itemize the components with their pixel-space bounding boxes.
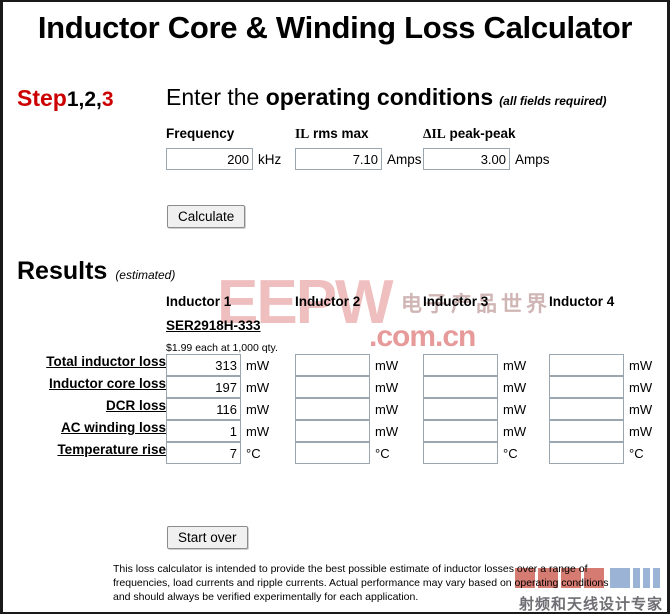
result-cell: mW bbox=[166, 354, 295, 376]
result-unit: °C bbox=[624, 446, 644, 461]
delta-il-label-symbol: ΔIL bbox=[423, 126, 446, 141]
delta-il-label-text: peak-peak bbox=[446, 126, 516, 141]
results-title: Results bbox=[17, 257, 107, 285]
results-header-row: Inductor 1 SER2918H-333 $1.99 each at 1,… bbox=[3, 294, 670, 354]
il-rms-max-label-text: rms max bbox=[309, 126, 368, 141]
calculator-page: EEPW 电子产品世界 .com.cn 射频和天线设计专家 Inductor C… bbox=[0, 0, 670, 614]
result-unit: mW bbox=[624, 358, 652, 373]
result-row-label[interactable]: Total inductor loss bbox=[3, 354, 166, 376]
result-value-input[interactable] bbox=[166, 398, 241, 420]
calculate-button[interactable]: Calculate bbox=[167, 205, 245, 228]
result-value-input[interactable] bbox=[423, 398, 498, 420]
result-value-input[interactable] bbox=[295, 354, 370, 376]
result-cell: mW bbox=[166, 398, 295, 420]
result-value-input[interactable] bbox=[166, 354, 241, 376]
result-value-input[interactable] bbox=[166, 420, 241, 442]
table-row: Total inductor lossmWmWmWmW bbox=[3, 354, 670, 376]
result-value-input[interactable] bbox=[423, 376, 498, 398]
result-cell: °C bbox=[295, 442, 423, 464]
results-note: (estimated) bbox=[107, 268, 175, 282]
result-unit: °C bbox=[498, 446, 518, 461]
result-cell: mW bbox=[423, 420, 549, 442]
result-value-input[interactable] bbox=[423, 354, 498, 376]
result-cell: mW bbox=[549, 376, 670, 398]
result-value-input[interactable] bbox=[295, 420, 370, 442]
result-cell: mW bbox=[295, 398, 423, 420]
result-cell: mW bbox=[423, 354, 549, 376]
result-cell: °C bbox=[549, 442, 670, 464]
result-unit: mW bbox=[241, 358, 269, 373]
table-row: AC winding lossmWmWmWmW bbox=[3, 420, 670, 442]
result-row-label[interactable]: Inductor core loss bbox=[3, 376, 166, 398]
result-unit: mW bbox=[370, 380, 398, 395]
result-value-input[interactable] bbox=[295, 376, 370, 398]
table-row: Inductor core lossmWmWmWmW bbox=[3, 376, 670, 398]
column-4-header: Inductor 4 bbox=[549, 294, 670, 309]
result-unit: mW bbox=[498, 424, 526, 439]
result-value-input[interactable] bbox=[423, 420, 498, 442]
result-cell: mW bbox=[423, 376, 549, 398]
delta-il-label: ΔIL peak-peak bbox=[423, 126, 550, 142]
step-numbers-black: 1,2, bbox=[67, 88, 102, 111]
frequency-label-text: Frequency bbox=[166, 126, 234, 141]
column-inductor-4: Inductor 4 bbox=[549, 294, 670, 354]
result-cell: mW bbox=[423, 398, 549, 420]
result-cell: mW bbox=[295, 354, 423, 376]
result-value-input[interactable] bbox=[549, 376, 624, 398]
step-indicator: Step1,2,3 bbox=[17, 85, 114, 112]
instruction-line: Enter the operating conditions(all field… bbox=[166, 84, 607, 111]
results-table: Inductor 1 SER2918H-333 $1.99 each at 1,… bbox=[3, 294, 670, 464]
frequency-group: Frequency kHz bbox=[166, 126, 281, 170]
result-value-input[interactable] bbox=[549, 442, 624, 464]
il-rms-max-unit: Amps bbox=[382, 152, 422, 167]
result-cell: mW bbox=[549, 398, 670, 420]
part-number-link-1[interactable]: SER2918H-333 bbox=[166, 318, 261, 333]
step-number-red: 3 bbox=[102, 88, 114, 111]
il-rms-max-input[interactable] bbox=[295, 148, 382, 170]
step-word: Step bbox=[17, 85, 67, 111]
delta-il-input[interactable] bbox=[423, 148, 510, 170]
header-spacer bbox=[3, 294, 166, 354]
frequency-unit: kHz bbox=[253, 152, 281, 167]
result-value-input[interactable] bbox=[549, 420, 624, 442]
result-value-input[interactable] bbox=[549, 398, 624, 420]
il-rms-max-group: IL rms max Amps bbox=[295, 126, 422, 170]
result-unit: mW bbox=[370, 424, 398, 439]
result-row-label[interactable]: DCR loss bbox=[3, 398, 166, 420]
frequency-input[interactable] bbox=[166, 148, 253, 170]
result-unit: mW bbox=[370, 358, 398, 373]
column-1-header: Inductor 1 bbox=[166, 294, 295, 309]
result-unit: °C bbox=[241, 446, 261, 461]
result-unit: mW bbox=[241, 402, 269, 417]
instruction-note: (all fields required) bbox=[493, 94, 606, 108]
result-value-input[interactable] bbox=[166, 442, 241, 464]
frequency-label: Frequency bbox=[166, 126, 281, 142]
column-inductor-3: Inductor 3 bbox=[423, 294, 549, 354]
table-row: DCR lossmWmWmWmW bbox=[3, 398, 670, 420]
result-unit: °C bbox=[370, 446, 390, 461]
result-unit: mW bbox=[370, 402, 398, 417]
result-cell: °C bbox=[423, 442, 549, 464]
result-value-input[interactable] bbox=[166, 376, 241, 398]
il-rms-max-label: IL rms max bbox=[295, 126, 422, 142]
result-cell: mW bbox=[549, 420, 670, 442]
result-unit: mW bbox=[624, 380, 652, 395]
result-cell: mW bbox=[166, 376, 295, 398]
result-row-label[interactable]: Temperature rise bbox=[3, 442, 166, 464]
results-heading: Results(estimated) bbox=[17, 257, 175, 286]
delta-il-unit: Amps bbox=[510, 152, 550, 167]
result-value-input[interactable] bbox=[423, 442, 498, 464]
instruction-emphasis: operating conditions bbox=[266, 84, 493, 110]
result-unit: mW bbox=[498, 402, 526, 417]
result-cell: mW bbox=[549, 354, 670, 376]
start-over-button[interactable]: Start over bbox=[167, 526, 248, 549]
column-inductor-2: Inductor 2 bbox=[295, 294, 423, 354]
part-price-1: $1.99 each at 1,000 qty. bbox=[166, 342, 295, 354]
result-unit: mW bbox=[624, 402, 652, 417]
result-cell: mW bbox=[295, 376, 423, 398]
result-unit: mW bbox=[498, 380, 526, 395]
result-row-label[interactable]: AC winding loss bbox=[3, 420, 166, 442]
result-unit: mW bbox=[498, 358, 526, 373]
table-row: Temperature rise°C°C°C°C bbox=[3, 442, 670, 464]
il-rms-max-label-symbol: IL bbox=[295, 126, 309, 141]
instruction-lead: Enter the bbox=[166, 84, 266, 110]
result-cell: mW bbox=[295, 420, 423, 442]
result-unit: mW bbox=[241, 380, 269, 395]
column-inductor-1: Inductor 1 SER2918H-333 $1.99 each at 1,… bbox=[166, 294, 295, 354]
column-2-header: Inductor 2 bbox=[295, 294, 423, 309]
result-value-input[interactable] bbox=[549, 354, 624, 376]
column-3-header: Inductor 3 bbox=[423, 294, 549, 309]
result-cell: mW bbox=[166, 420, 295, 442]
result-value-input[interactable] bbox=[295, 398, 370, 420]
result-unit: mW bbox=[624, 424, 652, 439]
result-value-input[interactable] bbox=[295, 442, 370, 464]
footer-disclaimer: This loss calculator is intended to prov… bbox=[113, 563, 613, 605]
page-title: Inductor Core & Winding Loss Calculator bbox=[3, 10, 667, 46]
result-cell: °C bbox=[166, 442, 295, 464]
result-unit: mW bbox=[241, 424, 269, 439]
delta-il-peak-peak-group: ΔIL peak-peak Amps bbox=[423, 126, 550, 170]
